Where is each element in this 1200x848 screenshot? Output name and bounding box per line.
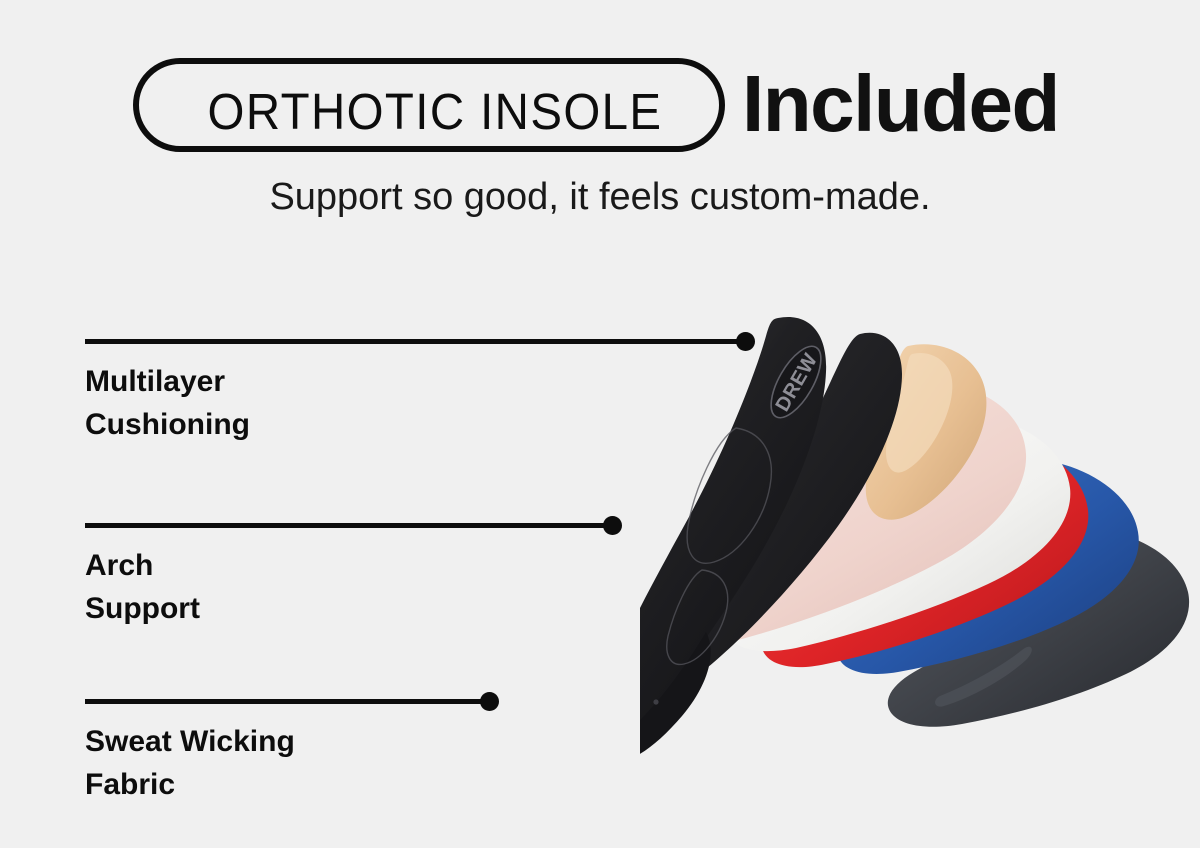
orthotic-insole-badge: ORTHOTIC INSOLE — [133, 58, 725, 152]
feature-label-line2: Fabric — [85, 763, 295, 806]
badge-label: ORTHOTIC INSOLE — [160, 64, 711, 158]
insole-layer-stack-image: DREW — [640, 310, 1200, 820]
feature-label: Arch Support — [85, 544, 200, 630]
feature-label-line2: Cushioning — [85, 403, 250, 446]
page-title: Included — [742, 52, 1059, 156]
header: ORTHOTIC INSOLE Included — [0, 54, 1200, 158]
feature-label-line1: Sweat Wicking — [85, 720, 295, 763]
subheadline: Support so good, it feels custom-made. — [0, 176, 1200, 219]
feature-leader-dot — [603, 516, 622, 535]
feature-label: Multilayer Cushioning — [85, 360, 250, 446]
feature-label-line1: Multilayer — [85, 360, 250, 403]
feature-label-line2: Support — [85, 587, 200, 630]
feature-label: Sweat Wicking Fabric — [85, 720, 295, 806]
feature-leader-line — [85, 699, 489, 704]
feature-leader-dot — [480, 692, 499, 711]
feature-leader-line — [85, 523, 612, 528]
orthotic-insole-promo-graphic: ORTHOTIC INSOLE Included Support so good… — [0, 0, 1200, 848]
feature-label-line1: Arch — [85, 544, 200, 587]
